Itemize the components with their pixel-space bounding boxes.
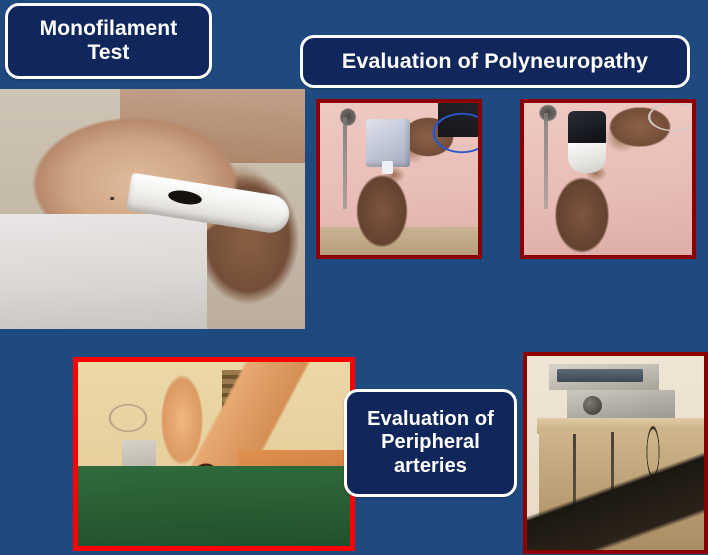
doppler-equipment-image <box>527 356 704 550</box>
photo-vibration-device-toe <box>520 99 696 259</box>
biothesiometer-toe-image <box>320 103 478 255</box>
callout-evaluation-of-peripheral-arteries: Evaluation of Peripheral arteries <box>344 389 517 497</box>
callout-monofilament-test: Monofilament Test <box>5 3 212 79</box>
monofilament-test-image <box>0 89 305 329</box>
callout-evaluation-of-polyneuropathy: Evaluation of Polyneuropathy <box>300 35 690 88</box>
callout-peripheral-label: Evaluation of Peripheral arteries <box>361 408 500 478</box>
callout-polyneuropathy-label: Evaluation of Polyneuropathy <box>336 49 654 74</box>
callout-monofilament-label: Monofilament Test <box>34 17 184 66</box>
photo-doppler-equipment <box>523 352 708 554</box>
slide-canvas: Monofilament Test Evaluation of Polyneur… <box>0 0 708 555</box>
vibration-device-toe-image <box>524 103 692 255</box>
photo-monofilament-test <box>0 89 305 329</box>
ankle-brachial-index-image <box>78 362 350 546</box>
photo-ankle-brachial-index <box>73 357 355 551</box>
photo-biothesiometer-toe <box>316 99 482 259</box>
